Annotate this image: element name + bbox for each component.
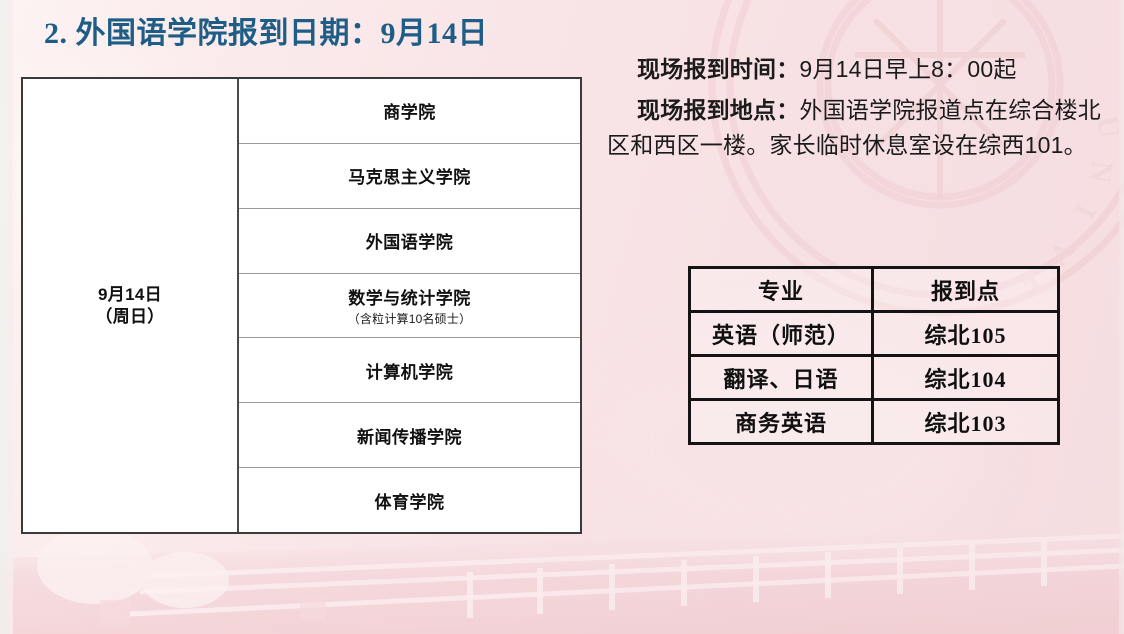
registration-time-value: 9月14日早上8：00起	[799, 56, 1016, 82]
college-name: 新闻传播学院	[357, 423, 462, 448]
major-cell: 翻译、日语	[690, 356, 873, 400]
registration-place-label: 现场报到地点：	[637, 97, 799, 123]
schedule-date: 9月14日	[95, 284, 164, 306]
left-edge-stripe	[0, 0, 13, 634]
column-header-major: 专业	[690, 268, 873, 312]
table-row: 英语（师范） 综北105	[690, 312, 1059, 356]
table-row: 新闻传播学院	[239, 403, 580, 468]
table-row: 计算机学院	[239, 338, 580, 403]
college-name: 马克思主义学院	[348, 163, 471, 188]
table-row: 外国语学院	[239, 209, 580, 274]
college-name: 商学院	[383, 98, 436, 123]
svg-text:I: I	[1068, 199, 1103, 224]
college-column: 商学院 马克思主义学院 外国语学院 数学与统计学院 （含粒计算10名硕士） 计算…	[239, 79, 580, 532]
college-name: 数学与统计学院	[348, 284, 471, 309]
schedule-date-cell: 9月14日 （周日）	[23, 79, 239, 532]
table-row: 数学与统计学院 （含粒计算10名硕士）	[239, 274, 580, 339]
table-header-row: 专业 报到点	[690, 268, 1059, 312]
page-title: 2. 外国语学院报到日期：9月14日	[44, 8, 488, 52]
college-name: 体育学院	[375, 488, 445, 513]
registration-place-line: 现场报到地点：外国语学院报道点在综合楼北区和西区一楼。家长临时休息室设在综西10…	[607, 93, 1107, 163]
right-edge-stripe	[1119, 0, 1124, 634]
schedule-weekday: （周日）	[95, 306, 164, 328]
point-cell: 综北103	[873, 400, 1059, 444]
registration-time-label: 现场报到时间：	[637, 56, 799, 82]
table-row: 商学院	[239, 79, 580, 144]
report-points-table: 专业 报到点 英语（师范） 综北105 翻译、日语 综北104 商务英语 综北1…	[688, 266, 1060, 445]
college-name: 计算机学院	[366, 358, 454, 383]
table-row: 马克思主义学院	[239, 144, 580, 209]
table-row: 商务英语 综北103	[690, 400, 1059, 444]
major-cell: 英语（师范）	[690, 312, 873, 356]
column-header-point: 报到点	[873, 268, 1059, 312]
table-row: 翻译、日语 综北104	[690, 356, 1059, 400]
registration-time-line: 现场报到时间：9月14日早上8：00起	[607, 52, 1107, 87]
registration-info: 现场报到时间：9月14日早上8：00起 现场报到地点：外国语学院报道点在综合楼北…	[607, 52, 1107, 169]
slide-canvas: 师 范 U N I V E	[0, 0, 1124, 634]
college-note: （含粒计算10名硕士）	[348, 310, 472, 327]
table-row: 体育学院	[239, 468, 580, 532]
college-name: 外国语学院	[366, 228, 454, 253]
point-cell: 综北104	[873, 356, 1059, 400]
point-cell: 综北105	[873, 312, 1059, 356]
major-cell: 商务英语	[690, 400, 873, 444]
schedule-table: 9月14日 （周日） 商学院 马克思主义学院 外国语学院 数学与统计学院 （含粒…	[21, 77, 582, 534]
